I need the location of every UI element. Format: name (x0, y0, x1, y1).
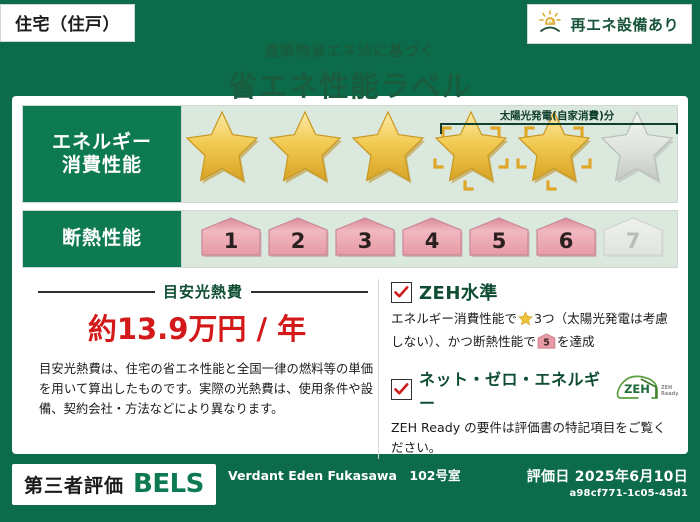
star-icon (518, 314, 533, 329)
property-name: Verdant Eden Fukasawa 102号室 (228, 468, 518, 485)
renewable-energy-badge: ⌂ 再エネ設備あり (527, 4, 692, 44)
cost-heading-rule-right (251, 291, 368, 293)
bels-certification-badge: 第三者評価 BELS (12, 464, 216, 505)
svg-text:Ready: Ready (661, 391, 678, 397)
insulation-grades-panel: 1234567 (182, 210, 678, 268)
net-zero-energy-title: ネット・ゼロ・エネルギー (419, 366, 609, 414)
estimated-cost-value: 約13.9万円 / 年 (22, 306, 372, 348)
svg-text:⌂: ⌂ (549, 17, 553, 25)
evaluation-info: 評価日 2025年6月10日 a98cf771-1c05-45d1 (527, 466, 688, 499)
renewable-badge-label: 再エネ設備あり (570, 14, 679, 35)
solar-annotation-bracket (440, 123, 678, 134)
insulation-grade-filled: 6 (533, 215, 599, 263)
net-zero-energy-body: ZEH Ready の要件は評価書の特記項目をご覧ください。 (391, 418, 678, 459)
check-icon (391, 379, 412, 400)
cost-heading-text: 目安光熱費 (163, 281, 243, 302)
evaluation-date: 評価日 2025年6月10日 (527, 466, 688, 486)
insulation-grade-icon: 5 (537, 337, 556, 352)
zeh-standard-heading: ZEH水準 (391, 279, 678, 305)
insulation-grade-filled: 1 (198, 215, 264, 263)
svg-text:6: 6 (558, 229, 573, 253)
svg-text:7: 7 (625, 229, 640, 253)
zeh-standard-body: エネルギー消費性能で3つ（太陽光発電は考慮しない）、かつ断熱性能で5を達成 (391, 309, 678, 356)
bels-jp-label: 第三者評価 (24, 471, 124, 498)
insulation-performance-row: 断熱性能 1234567 (22, 210, 678, 268)
housing-type-chip: 住宅（住戸） (0, 4, 135, 42)
bels-label-root: 住宅（住戸） ⌂ 再エネ設備あり 建築物省エネ法に基づく 省エネ性能ラベル (0, 0, 700, 522)
star-filled (265, 108, 345, 198)
energy-label-line1: エネルギー (52, 131, 152, 154)
solar-sun-icon: ⌂ (537, 10, 563, 38)
star-filled (348, 108, 428, 198)
insulation-grade-row: 1234567 (182, 211, 677, 267)
cost-column: 目安光熱費 約13.9万円 / 年 目安光熱費は、住宅の省エネ性能と全国一律の燃… (22, 275, 378, 459)
bels-en-label: BELS (133, 469, 204, 499)
energy-performance-label: エネルギー 消費性能 (22, 105, 182, 203)
energy-stars-panel: 太陽光発電(自家消費)分 (182, 105, 678, 203)
net-zero-energy-heading: ネット・ゼロ・エネルギー ZEH ZEH Ready (391, 366, 678, 414)
header-title: 省エネ性能ラベル (0, 63, 700, 105)
zeh-column: ZEH水準 エネルギー消費性能で3つ（太陽光発電は考慮しない）、かつ断熱性能で5… (378, 279, 678, 459)
insulation-grade-filled: 5 (466, 215, 532, 263)
check-icon (391, 282, 412, 303)
evaluation-id: a98cf771-1c05-45d1 (527, 488, 688, 499)
zeh-ready-logo-icon: ZEH ZEH Ready (616, 375, 678, 405)
insulation-label-text: 断熱性能 (62, 227, 142, 250)
zeh-body-part1: エネルギー消費性能で (391, 311, 517, 326)
svg-text:5: 5 (491, 229, 506, 253)
cost-heading-rule-left (38, 291, 155, 293)
svg-text:ZEH: ZEH (624, 382, 650, 396)
zeh-body-part3: を達成 (557, 334, 595, 349)
energy-label-line2: 消費性能 (62, 154, 142, 177)
label-content-card: エネルギー 消費性能 太陽光発電(自家消費)分 断熱性能 1234567 (12, 96, 688, 454)
insulation-grade-filled: 3 (332, 215, 398, 263)
insulation-grade-empty: 7 (600, 215, 666, 263)
energy-performance-row: エネルギー 消費性能 太陽光発電(自家消費)分 (22, 105, 678, 203)
header-titles: 建築物省エネ法に基づく 省エネ性能ラベル (0, 40, 700, 105)
insulation-grade-filled: 2 (265, 215, 331, 263)
svg-text:3: 3 (357, 229, 372, 253)
svg-text:5: 5 (543, 338, 549, 349)
cost-disclaimer-text: 目安光熱費は、住宅の省エネ性能と全国一律の燃料等の単価を用いて算出したものです。… (39, 360, 373, 420)
svg-text:2: 2 (290, 229, 305, 253)
star-filled (182, 108, 262, 198)
cost-heading: 目安光熱費 (38, 281, 368, 302)
label-footer: 第三者評価 BELS Verdant Eden Fukasawa 102号室 評… (0, 456, 700, 522)
svg-text:4: 4 (424, 229, 439, 253)
svg-text:1: 1 (223, 229, 238, 253)
insulation-grade-filled: 4 (399, 215, 465, 263)
bottom-columns: 目安光熱費 約13.9万円 / 年 目安光熱費は、住宅の省エネ性能と全国一律の燃… (22, 275, 678, 459)
insulation-performance-label: 断熱性能 (22, 210, 182, 268)
solar-annotation-text: 太陽光発電(自家消費)分 (435, 108, 679, 123)
zeh-standard-title: ZEH水準 (419, 279, 498, 305)
